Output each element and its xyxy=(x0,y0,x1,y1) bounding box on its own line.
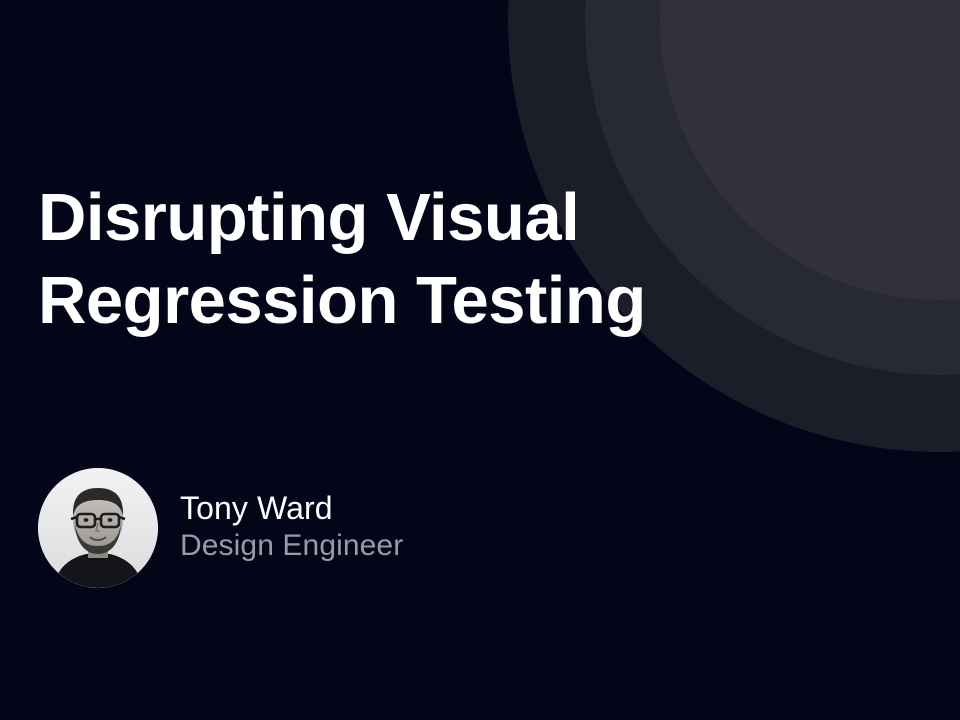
presenter-role: Design Engineer xyxy=(180,528,403,565)
presenter-block: Tony Ward Design Engineer xyxy=(38,468,403,588)
title-slide: Disrupting Visual Regression Testing xyxy=(0,0,960,720)
presenter-text: Tony Ward Design Engineer xyxy=(180,489,403,567)
concentric-rings-decoration xyxy=(0,0,960,720)
avatar-photo-icon xyxy=(38,468,158,588)
slide-title: Disrupting Visual Regression Testing xyxy=(38,176,738,342)
presenter-name: Tony Ward xyxy=(180,489,403,528)
avatar xyxy=(38,468,158,588)
title-block: Disrupting Visual Regression Testing xyxy=(38,176,738,342)
